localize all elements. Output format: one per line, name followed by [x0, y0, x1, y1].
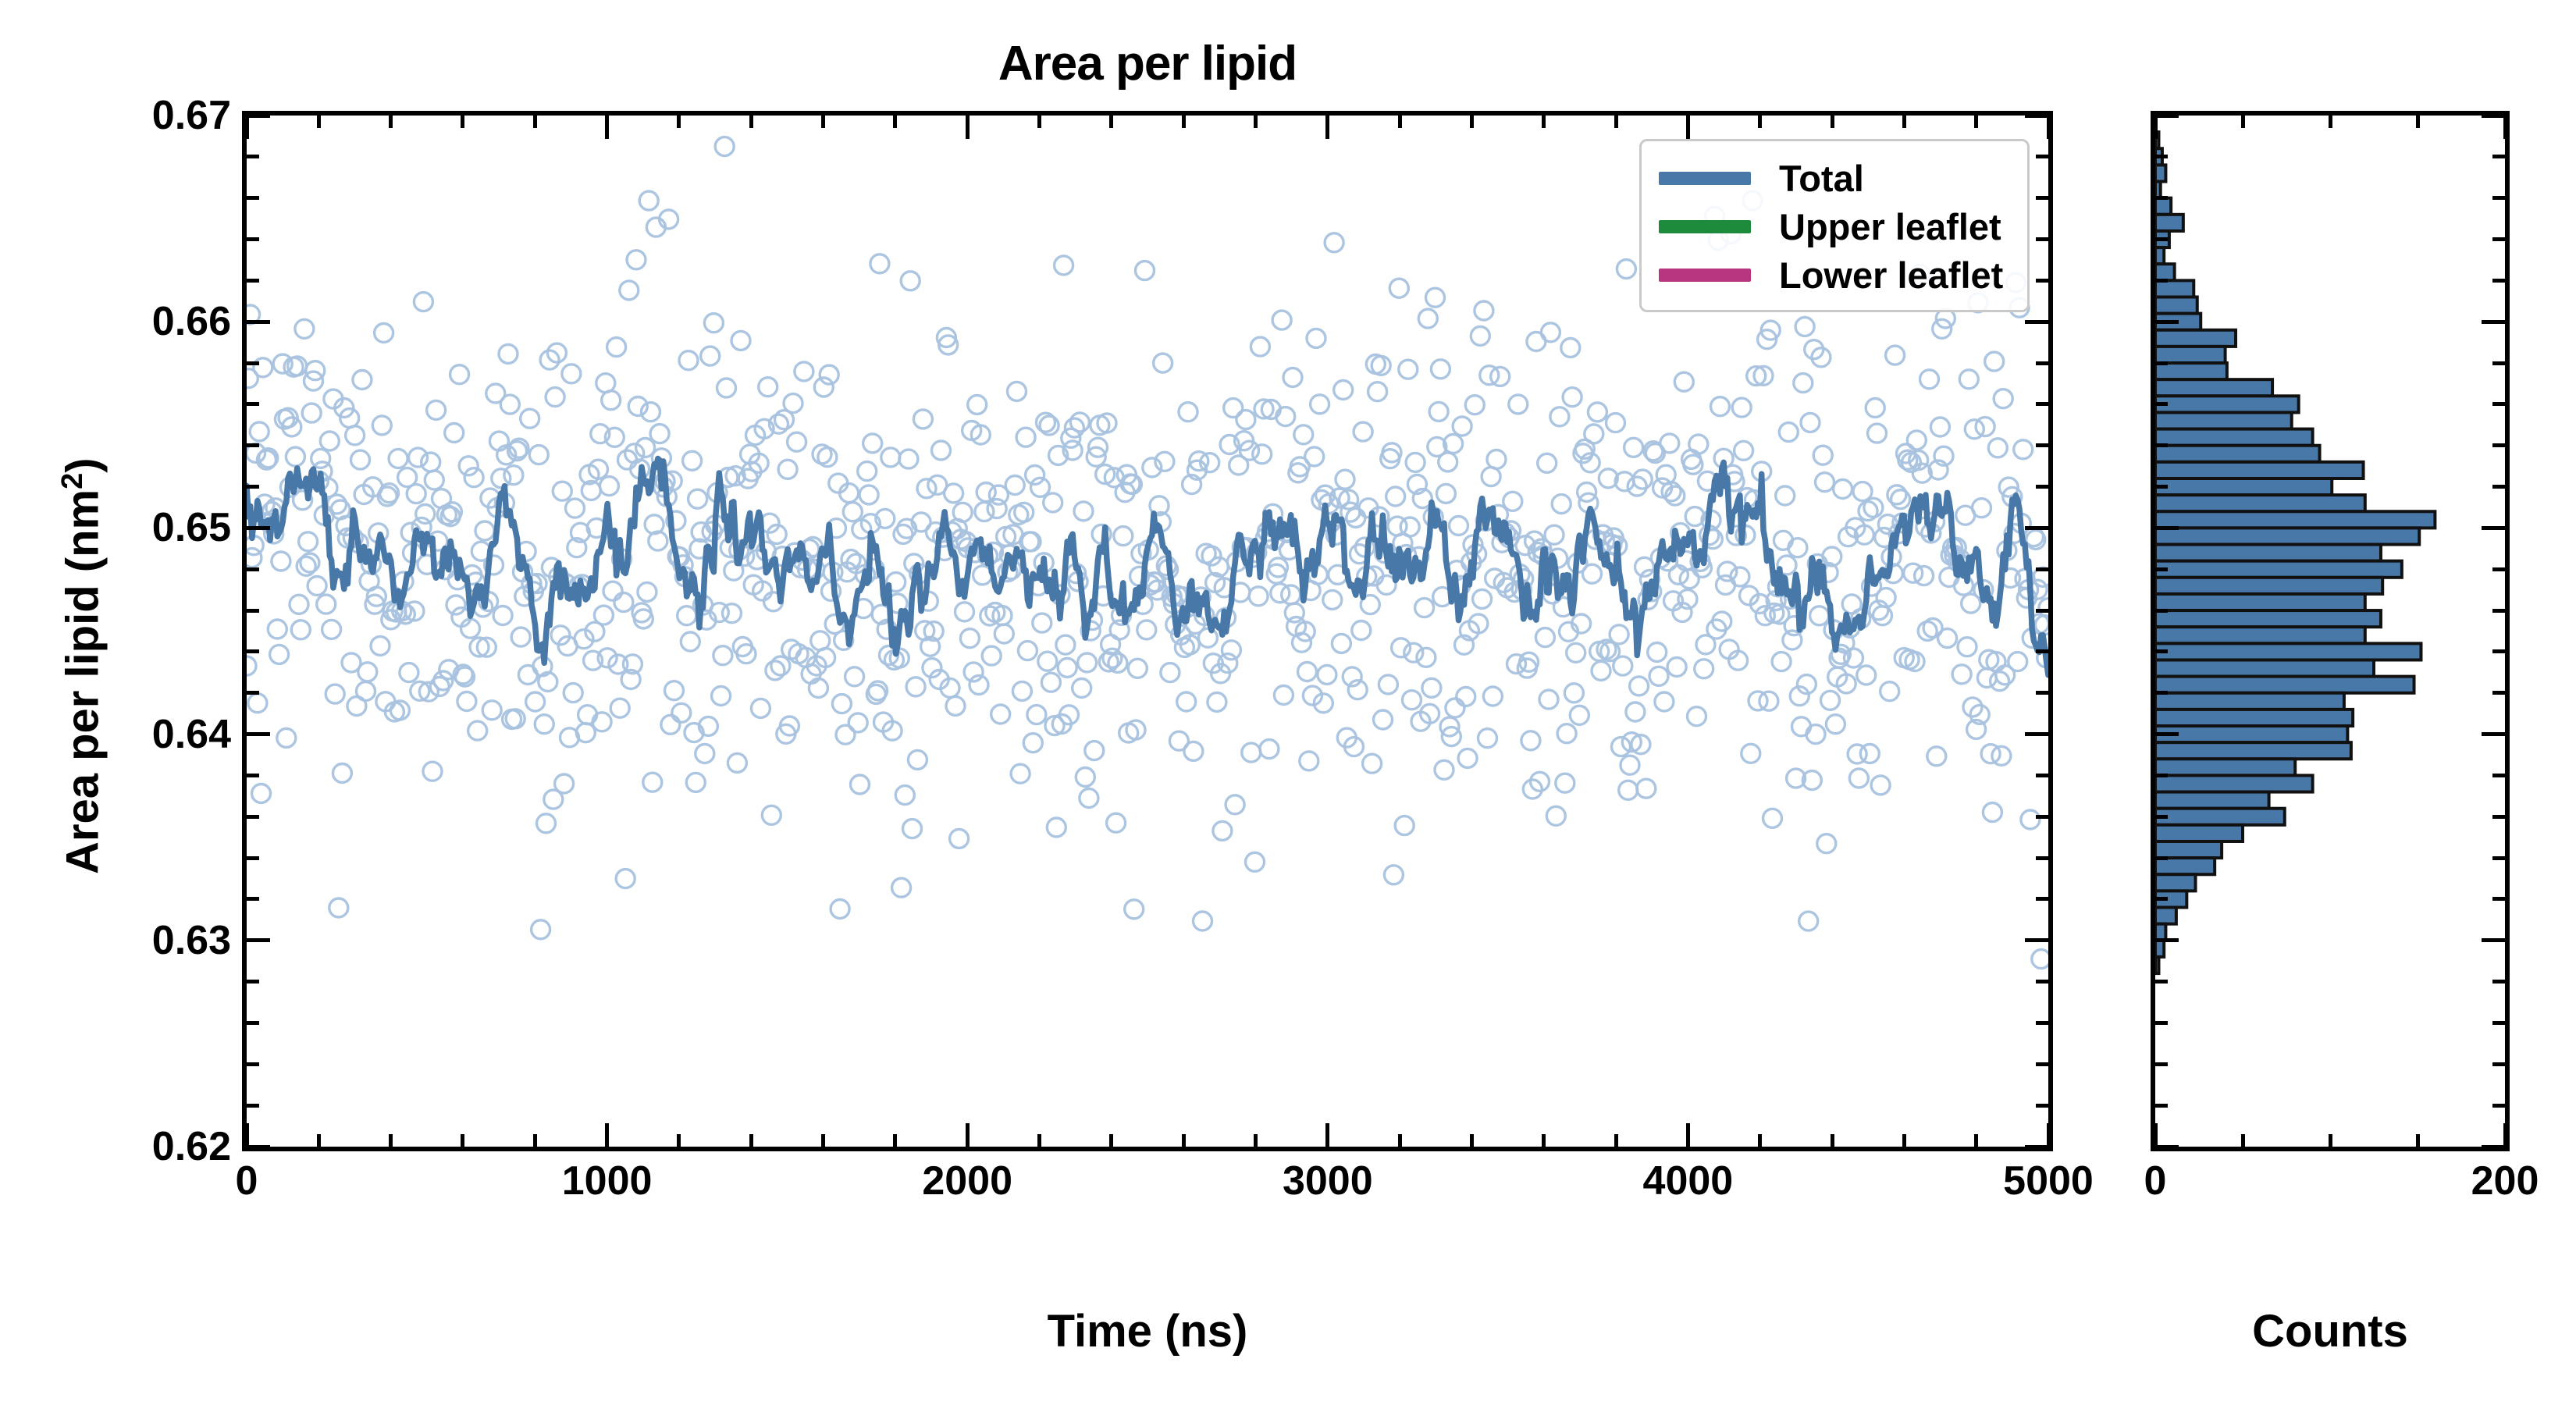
x-major-tick-top [2047, 116, 2051, 139]
y-minor-tick [247, 980, 259, 983]
y-minor-tick [247, 815, 259, 819]
legend-label-lower-leaflet: Lower leaflet [1779, 257, 2003, 293]
hist-x-major-tick [2154, 1123, 2158, 1147]
x-minor-tick-top [461, 116, 464, 128]
histogram-bar [2155, 198, 2171, 215]
hist-x-major-tick [2503, 1123, 2507, 1147]
x-major-tick-top [245, 116, 249, 139]
y-major-tick-right [2025, 1145, 2048, 1149]
x-tick-label: 2000 [922, 1158, 1012, 1204]
hist-y-minor-tick [2155, 567, 2168, 571]
histogram-bar [2155, 858, 2215, 874]
histogram-bar [2155, 511, 2435, 528]
histogram-bar [2155, 215, 2183, 231]
x-major-tick [1325, 1123, 1329, 1147]
hist-y-minor-tick [2155, 155, 2168, 158]
x-minor-tick-top [749, 116, 753, 128]
x-minor-tick [533, 1134, 537, 1147]
histogram-bar [2155, 742, 2351, 759]
y-major-tick-right [2025, 732, 2048, 736]
histogram-bar [2155, 247, 2164, 264]
y-minor-tick-right [2036, 567, 2048, 571]
histogram-bar [2155, 363, 2227, 379]
y-minor-tick [247, 691, 259, 695]
y-minor-tick [247, 1062, 259, 1066]
x-minor-tick [1902, 1134, 1906, 1147]
hist-y-minor-tick-right [2492, 196, 2505, 200]
histogram-bar [2155, 594, 2365, 610]
y-minor-tick [247, 897, 259, 901]
x-minor-tick-top [533, 116, 537, 128]
hist-y-major-tick-right [2482, 114, 2505, 118]
hist-x-minor-tick [2416, 1134, 2420, 1147]
hist-x-tick-label: 200 [2471, 1158, 2539, 1204]
x-major-tick [245, 1123, 249, 1147]
x-minor-tick [1398, 1134, 1402, 1147]
x-major-tick [1686, 1123, 1690, 1147]
hist-x-minor-tick-top [2416, 116, 2420, 128]
hist-x-major-tick-top [2154, 116, 2158, 139]
x-minor-tick [1831, 1134, 1834, 1147]
histogram-bar [2155, 165, 2165, 181]
x-minor-tick-top [1614, 116, 1618, 128]
y-axis-title-exponent: 2 [56, 473, 89, 489]
x-minor-tick-top [1254, 116, 1258, 128]
x-minor-tick-top [821, 116, 825, 128]
histogram-bar [2155, 462, 2364, 478]
hist-x-minor-tick-top [2241, 116, 2245, 128]
hist-x-tick-label: 0 [2144, 1158, 2167, 1204]
x-minor-tick-top [317, 116, 321, 128]
y-minor-tick-right [2036, 279, 2048, 283]
x-minor-tick-top [893, 116, 897, 128]
y-major-tick-right [2025, 320, 2048, 324]
x-minor-tick-top [1470, 116, 1474, 128]
hist-y-major-tick-right [2482, 320, 2505, 324]
hist-y-major-tick [2155, 938, 2179, 942]
histogram-bar [2155, 643, 2421, 660]
hist-y-minor-tick-right [2492, 980, 2505, 983]
x-tick-label: 0 [236, 1158, 258, 1204]
x-minor-tick [677, 1134, 681, 1147]
histogram-bar [2155, 297, 2197, 314]
hist-y-minor-tick [2155, 856, 2168, 860]
legend-swatch-total [1659, 172, 1751, 185]
y-major-tick-right [2025, 526, 2048, 530]
y-minor-tick-right [2036, 402, 2048, 406]
y-major-tick-right [2025, 114, 2048, 118]
hist-y-minor-tick-right [2492, 1062, 2505, 1066]
histogram-bar [2155, 874, 2196, 891]
histogram-bar [2155, 627, 2365, 643]
hist-y-minor-tick-right [2492, 279, 2505, 283]
legend-item-lower-leaflet[interactable]: Lower leaflet [1659, 251, 2010, 299]
y-tick-label: 0.65 [152, 504, 231, 551]
x-major-tick-top [1325, 116, 1329, 139]
histogram-bar [2155, 379, 2272, 396]
y-minor-tick-right [2036, 609, 2048, 613]
histogram-bar [2155, 545, 2381, 561]
y-minor-tick [247, 237, 259, 241]
histogram-bar [2155, 396, 2299, 412]
x-minor-tick-top [677, 116, 681, 128]
x-major-tick-top [605, 116, 609, 139]
hist-y-minor-tick [2155, 815, 2168, 819]
legend-swatch-upper-leaflet [1659, 220, 1751, 233]
y-minor-tick [247, 1104, 259, 1108]
y-minor-tick-right [2036, 649, 2048, 653]
histogram-x-axis-title: Counts [2151, 1305, 2510, 1357]
y-minor-tick [247, 774, 259, 777]
histogram-bar [2155, 710, 2353, 726]
x-minor-tick-top [1037, 116, 1041, 128]
histogram-bar [2155, 446, 2320, 462]
histogram-bar [2155, 809, 2285, 825]
legend-label-upper-leaflet: Upper leaflet [1779, 208, 2001, 245]
hist-y-minor-tick-right [2492, 485, 2505, 489]
x-tick-label: 4000 [1643, 1158, 1734, 1204]
hist-y-minor-tick-right [2492, 402, 2505, 406]
histogram-bar [2155, 280, 2194, 297]
y-minor-tick [247, 155, 259, 158]
hist-y-minor-tick-right [2492, 567, 2505, 571]
y-axis-title-tail: ) [57, 457, 108, 472]
y-minor-tick [247, 1021, 259, 1025]
histogram-bar [2155, 660, 2374, 676]
hist-y-minor-tick [2155, 237, 2168, 241]
x-major-tick-top [1686, 116, 1690, 139]
hist-y-minor-tick [2155, 1021, 2168, 1025]
y-minor-tick-right [2036, 443, 2048, 447]
y-minor-tick-right [2036, 856, 2048, 860]
y-minor-tick-right [2036, 691, 2048, 695]
y-minor-tick-right [2036, 815, 2048, 819]
hist-y-major-tick [2155, 114, 2179, 118]
x-minor-tick-top [1902, 116, 1906, 128]
x-minor-tick-top [1831, 116, 1834, 128]
y-tick-label: 0.66 [152, 298, 231, 345]
hist-y-minor-tick [2155, 649, 2168, 653]
x-minor-tick [389, 1134, 393, 1147]
histogram-bar [2155, 412, 2292, 429]
y-axis-title: Area per lipid (nm2) [56, 457, 109, 874]
hist-y-minor-tick-right [2492, 361, 2505, 365]
histogram-bar [2155, 908, 2176, 924]
y-minor-tick [247, 279, 259, 283]
y-major-tick [247, 114, 270, 118]
x-minor-tick [317, 1134, 321, 1147]
y-minor-tick-right [2036, 1021, 2048, 1025]
hist-y-major-tick [2155, 526, 2179, 530]
y-minor-tick [247, 443, 259, 447]
x-minor-tick-top [389, 116, 393, 128]
x-minor-tick-top [1398, 116, 1402, 128]
legend-label-total: Total [1779, 160, 1864, 197]
hist-y-major-tick [2155, 1145, 2179, 1149]
x-minor-tick [1758, 1134, 1762, 1147]
y-minor-tick-right [2036, 361, 2048, 365]
y-minor-tick [247, 856, 259, 860]
y-minor-tick-right [2036, 980, 2048, 983]
figure-title: Area per lipid [242, 36, 2053, 91]
y-major-tick [247, 320, 270, 324]
y-major-tick [247, 938, 270, 942]
hist-y-minor-tick [2155, 691, 2168, 695]
legend-item-total[interactable]: Total [1659, 154, 2010, 202]
histogram-bar [2155, 561, 2402, 578]
hist-y-minor-tick [2155, 361, 2168, 365]
x-minor-tick-top [1974, 116, 1978, 128]
hist-y-minor-tick-right [2492, 443, 2505, 447]
hist-y-minor-tick [2155, 196, 2168, 200]
hist-y-minor-tick-right [2492, 774, 2505, 777]
hist-y-major-tick-right [2482, 526, 2505, 530]
y-minor-tick-right [2036, 774, 2048, 777]
histogram-bar [2155, 726, 2347, 742]
hist-y-minor-tick-right [2492, 815, 2505, 819]
x-axis-title: Time (ns) [242, 1305, 2053, 1357]
hist-y-minor-tick [2155, 897, 2168, 901]
histogram-bar [2155, 578, 2382, 594]
hist-y-minor-tick-right [2492, 856, 2505, 860]
y-minor-tick-right [2036, 1062, 2048, 1066]
x-minor-tick [1254, 1134, 1258, 1147]
histogram-bar [2155, 677, 2414, 693]
y-minor-tick-right [2036, 237, 2048, 241]
histogram-bar [2155, 478, 2332, 495]
histogram-bar [2155, 429, 2313, 446]
hist-y-minor-tick [2155, 774, 2168, 777]
hist-y-minor-tick [2155, 1062, 2168, 1066]
hist-y-major-tick-right [2482, 732, 2505, 736]
hist-y-minor-tick-right [2492, 237, 2505, 241]
x-minor-tick-top [1542, 116, 1546, 128]
hist-y-major-tick-right [2482, 1145, 2505, 1149]
hist-y-major-tick-right [2482, 938, 2505, 942]
y-axis-title-text: Area per lipid (nm [57, 489, 108, 874]
hist-y-minor-tick-right [2492, 691, 2505, 695]
y-minor-tick [247, 649, 259, 653]
x-minor-tick [893, 1134, 897, 1147]
y-tick-label: 0.64 [152, 711, 231, 758]
hist-x-minor-tick-top [2329, 116, 2332, 128]
y-tick-label: 0.63 [152, 917, 231, 964]
y-minor-tick [247, 609, 259, 613]
hist-y-minor-tick-right [2492, 897, 2505, 901]
histogram-bar [2155, 610, 2381, 627]
y-minor-tick-right [2036, 897, 2048, 901]
x-major-tick [605, 1123, 609, 1147]
hist-y-minor-tick-right [2492, 1021, 2505, 1025]
y-major-tick [247, 1145, 270, 1149]
histogram-bar [2155, 941, 2164, 957]
y-minor-tick-right [2036, 196, 2048, 200]
hist-y-minor-tick [2155, 1104, 2168, 1108]
x-minor-tick-top [1758, 116, 1762, 128]
y-major-tick [247, 732, 270, 736]
hist-y-minor-tick-right [2492, 155, 2505, 158]
hist-y-minor-tick-right [2492, 649, 2505, 653]
x-major-tick [2047, 1123, 2051, 1147]
hist-y-minor-tick [2155, 980, 2168, 983]
histogram-axes [2151, 111, 2510, 1151]
histogram-bar [2155, 775, 2313, 791]
hist-x-minor-tick [2241, 1134, 2245, 1147]
hist-y-minor-tick [2155, 443, 2168, 447]
legend-swatch-lower-leaflet [1659, 269, 1751, 282]
hist-y-minor-tick [2155, 609, 2168, 613]
x-minor-tick [1037, 1134, 1041, 1147]
y-tick-label: 0.67 [152, 92, 231, 139]
histogram-bar [2155, 330, 2236, 347]
x-minor-tick [1182, 1134, 1186, 1147]
y-minor-tick [247, 402, 259, 406]
x-minor-tick [821, 1134, 825, 1147]
hist-y-major-tick [2155, 732, 2179, 736]
hist-y-major-tick [2155, 320, 2179, 324]
figure-root: Area per lipid Total Upper leaflet Lower… [0, 0, 2576, 1405]
x-tick-label: 5000 [2003, 1158, 2094, 1204]
x-minor-tick-top [1109, 116, 1113, 128]
x-minor-tick [461, 1134, 464, 1147]
histogram-bar [2155, 495, 2365, 511]
histogram-bar [2155, 957, 2158, 973]
x-minor-tick-top [1182, 116, 1186, 128]
x-tick-label: 1000 [562, 1158, 653, 1204]
y-minor-tick [247, 196, 259, 200]
legend: Total Upper leaflet Lower leaflet [1639, 139, 2030, 312]
x-tick-label: 3000 [1283, 1158, 1373, 1204]
hist-y-minor-tick [2155, 485, 2168, 489]
histogram-bar [2155, 792, 2269, 809]
x-minor-tick [1470, 1134, 1474, 1147]
hist-y-minor-tick-right [2492, 1104, 2505, 1108]
hist-y-minor-tick-right [2492, 609, 2505, 613]
x-minor-tick [1614, 1134, 1618, 1147]
x-major-tick [966, 1123, 970, 1147]
y-tick-label: 0.62 [152, 1123, 231, 1170]
hist-y-minor-tick [2155, 279, 2168, 283]
y-minor-tick [247, 361, 259, 365]
histogram-bar [2155, 825, 2243, 841]
y-minor-tick [247, 567, 259, 571]
x-minor-tick [1109, 1134, 1113, 1147]
y-major-tick [247, 526, 270, 530]
x-minor-tick [749, 1134, 753, 1147]
hist-y-minor-tick [2155, 402, 2168, 406]
y-major-tick-right [2025, 938, 2048, 942]
x-minor-tick [1542, 1134, 1546, 1147]
legend-item-upper-leaflet[interactable]: Upper leaflet [1659, 202, 2010, 251]
histogram-bar [2155, 528, 2419, 544]
hist-x-major-tick-top [2503, 116, 2507, 139]
x-minor-tick [1974, 1134, 1978, 1147]
histogram-bar [2155, 693, 2344, 710]
x-major-tick-top [966, 116, 970, 139]
histogram-bar [2155, 759, 2295, 775]
y-minor-tick-right [2036, 1104, 2048, 1108]
hist-x-minor-tick [2329, 1134, 2332, 1147]
y-minor-tick-right [2036, 485, 2048, 489]
y-minor-tick-right [2036, 155, 2048, 158]
y-minor-tick [247, 485, 259, 489]
histogram-canvas [2155, 116, 2505, 1147]
